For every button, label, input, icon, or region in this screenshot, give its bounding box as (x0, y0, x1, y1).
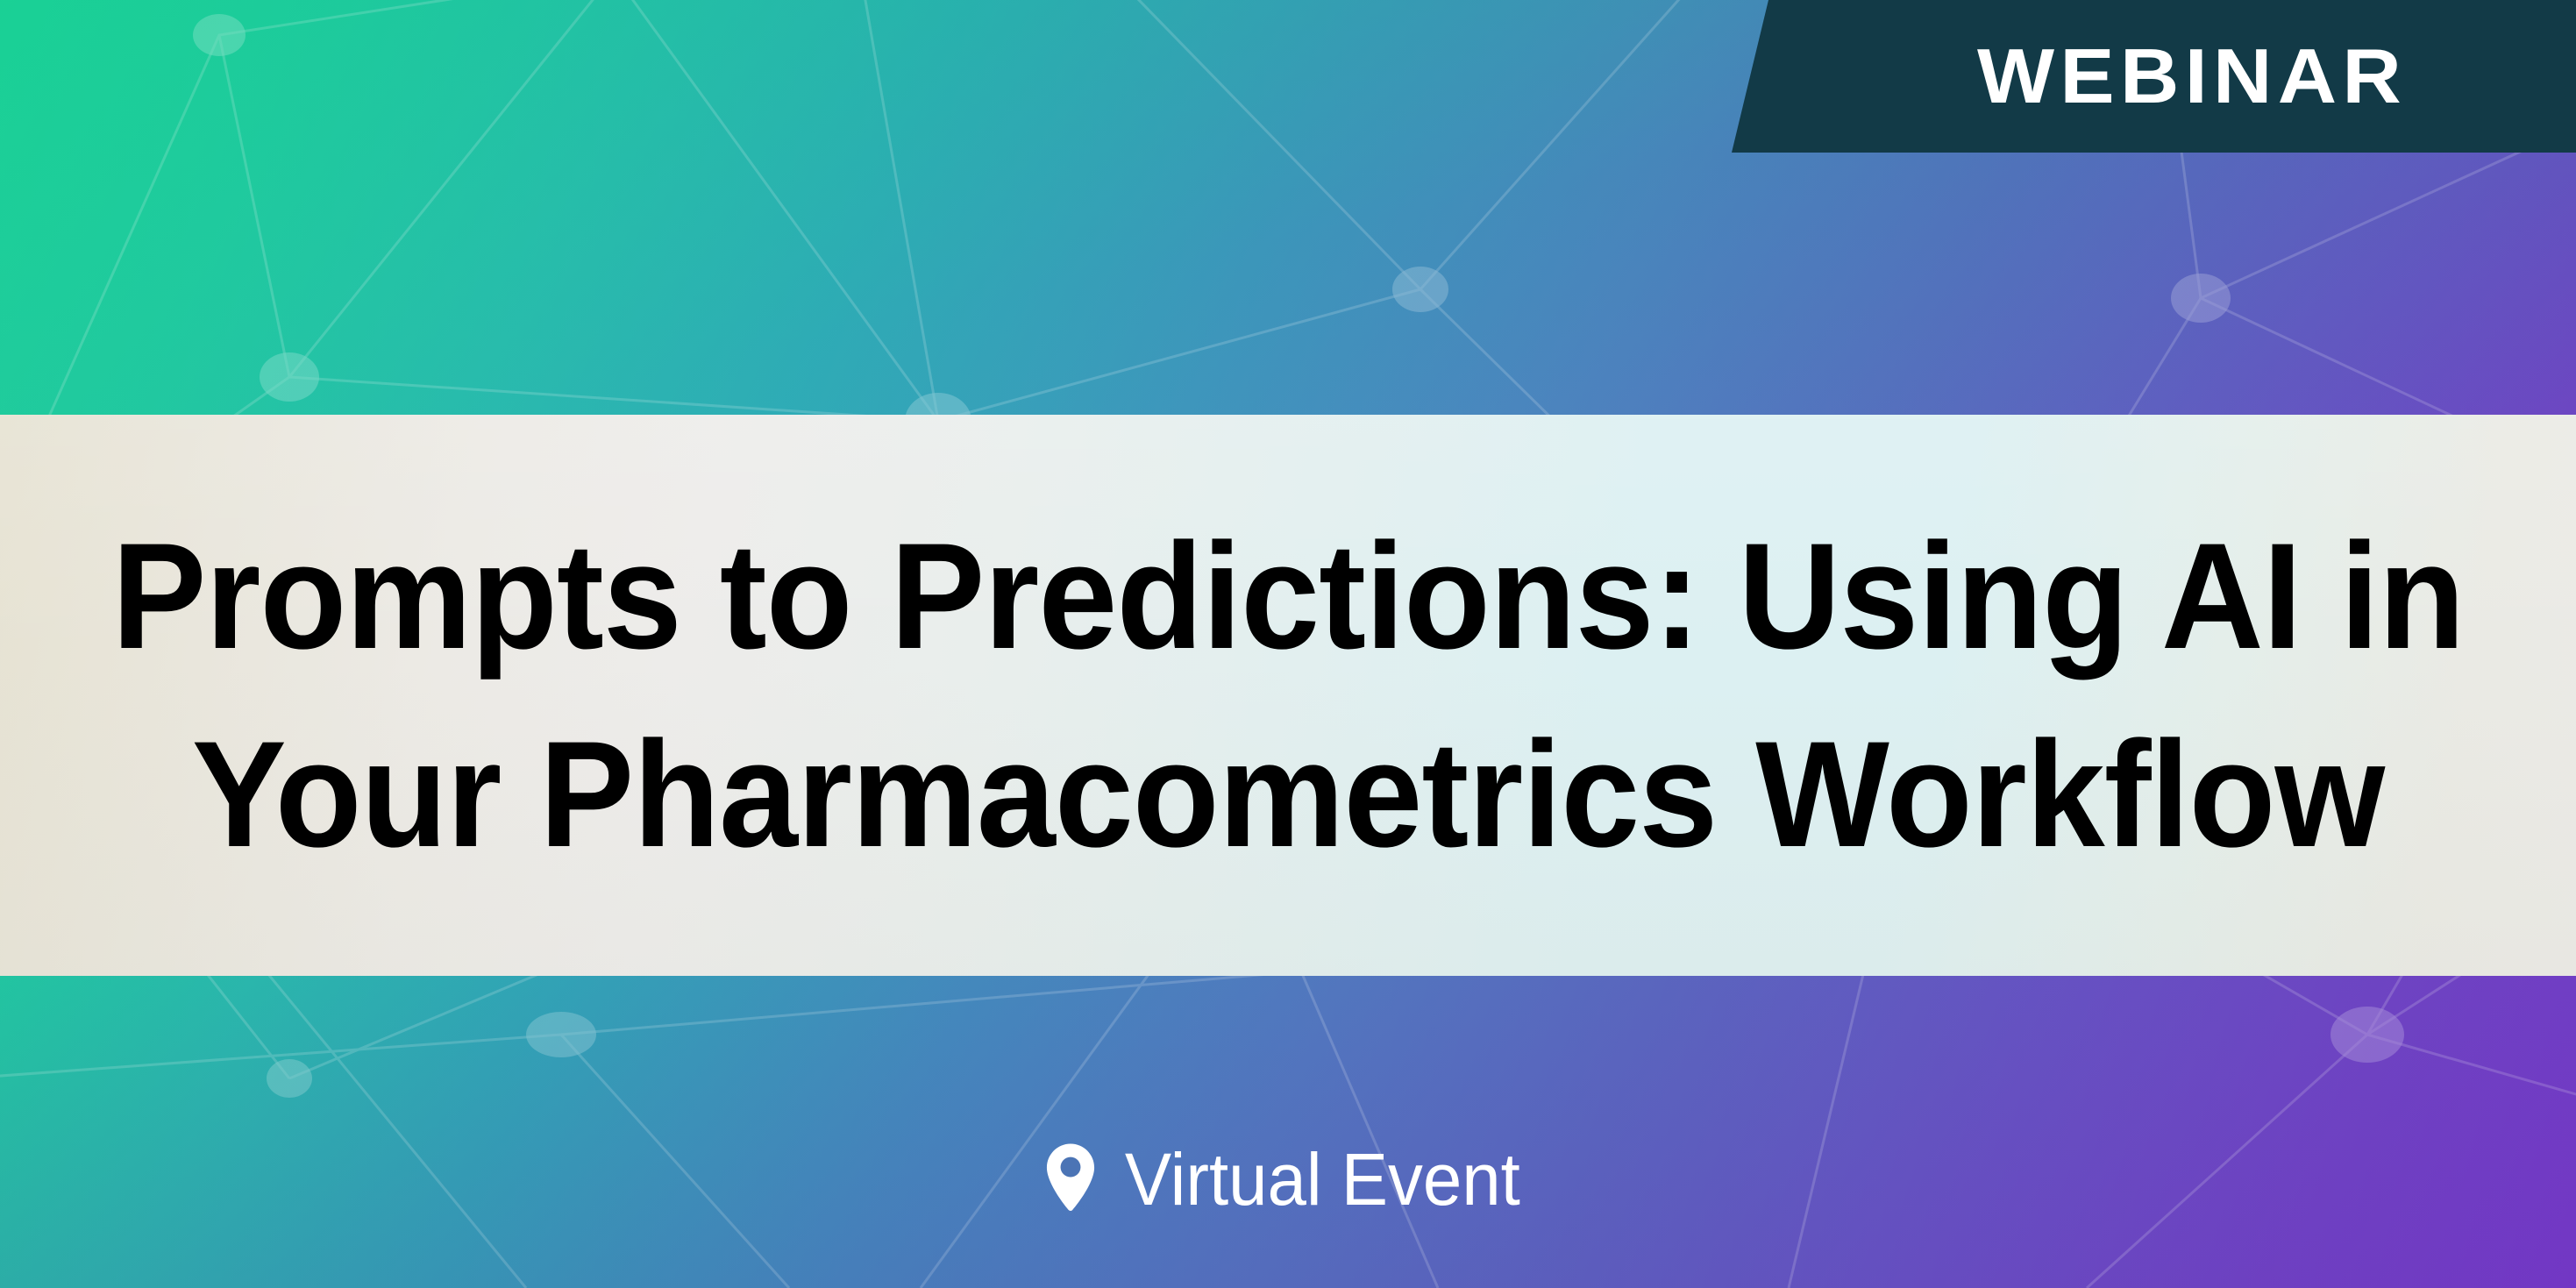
event-location-label: Virtual Event (1125, 1142, 1520, 1216)
webinar-banner: WEBINAR Prompts to Predictions: Using AI… (0, 0, 2576, 1288)
page-title-line-1: Prompts to Predictions: Using AI in (112, 497, 2465, 695)
event-location: Virtual Event (0, 1122, 2576, 1236)
webinar-badge: WEBINAR (1732, 0, 2576, 153)
title-band: Prompts to Predictions: Using AI in Your… (0, 415, 2576, 976)
webinar-badge-label: WEBINAR (1977, 38, 2407, 115)
page-title: Prompts to Predictions: Using AI in Your… (79, 497, 2497, 893)
page-title-line-2: Your Pharmacometrics Workflow (112, 695, 2465, 893)
map-pin-icon (1046, 1143, 1095, 1212)
